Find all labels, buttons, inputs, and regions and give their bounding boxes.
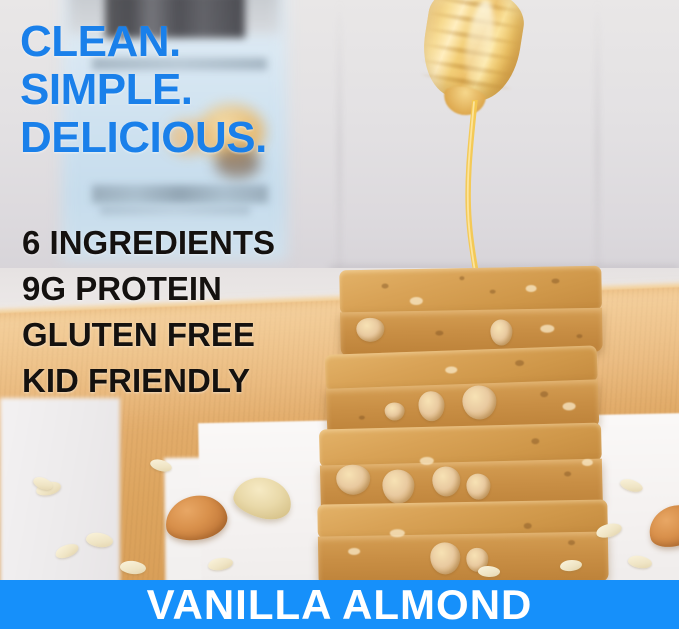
- package-label-band: [92, 185, 268, 203]
- protein-bar: [339, 266, 608, 357]
- flavor-name: VANILLA ALMOND: [147, 584, 533, 626]
- product-ad-image: CLEAN. SIMPLE. DELICIOUS. 6 INGREDIENTS …: [0, 0, 679, 629]
- feature-list: 6 INGREDIENTS 9G PROTEIN GLUTEN FREE KID…: [22, 220, 275, 404]
- flavor-banner: VANILLA ALMOND: [0, 580, 679, 629]
- protein-bar: [317, 499, 614, 586]
- headline-block: CLEAN. SIMPLE. DELICIOUS.: [20, 18, 267, 162]
- headline-line-1: CLEAN.: [20, 18, 267, 66]
- tile-seam-icon: [338, 0, 341, 300]
- feature-gluten-free: GLUTEN FREE: [22, 312, 275, 358]
- feature-ingredients: 6 INGREDIENTS: [22, 220, 275, 266]
- tile-seam-icon: [596, 0, 599, 300]
- feature-kid-friendly: KID FRIENDLY: [22, 358, 275, 404]
- stacked-protein-bars: [318, 258, 638, 583]
- left-table-surface: [0, 398, 120, 598]
- package-label-band: [100, 206, 250, 215]
- headline-line-3: DELICIOUS.: [20, 114, 267, 162]
- feature-protein: 9G PROTEIN: [22, 266, 275, 312]
- headline-line-2: SIMPLE.: [20, 66, 267, 114]
